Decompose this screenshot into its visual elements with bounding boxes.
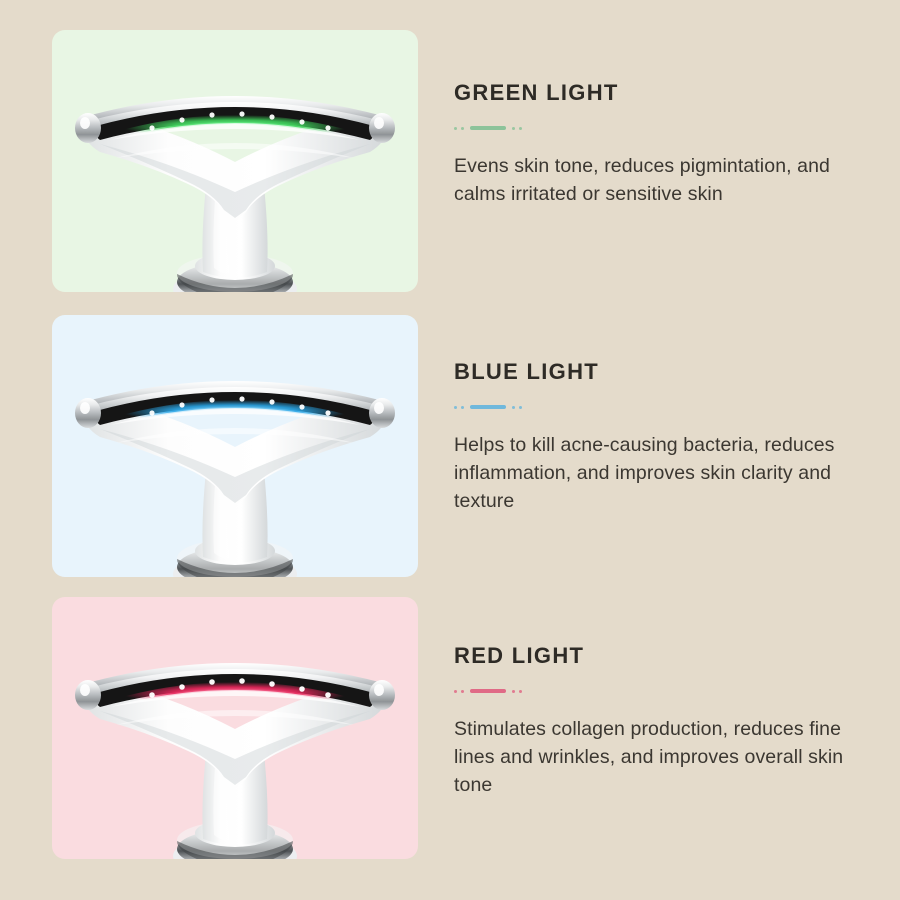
divider-bar — [470, 126, 506, 130]
divider-bar — [470, 405, 506, 409]
accent-divider-blue — [454, 404, 880, 410]
divider-dot — [512, 127, 515, 130]
section-heading: BLUE LIGHT — [454, 361, 880, 383]
divider-dot — [519, 690, 522, 693]
divider-bar — [470, 689, 506, 693]
divider-dot — [519, 127, 522, 130]
divider-dot — [454, 127, 457, 130]
accent-divider-red — [454, 688, 880, 694]
divider-dot — [519, 406, 522, 409]
section-red-light: RED LIGHT Stimulates collagen production… — [0, 597, 900, 859]
infographic-page: GREEN LIGHT Evens skin tone, reduces pig… — [0, 0, 900, 900]
divider-dot — [454, 406, 457, 409]
accent-divider-green — [454, 125, 880, 131]
section-heading: RED LIGHT — [454, 645, 880, 667]
section-description: Stimulates collagen production, reduces … — [454, 716, 880, 800]
divider-dot — [461, 690, 464, 693]
divider-dot — [461, 406, 464, 409]
divider-dot — [512, 690, 515, 693]
divider-dot — [454, 690, 457, 693]
section-description: Helps to kill acne-causing bacteria, red… — [454, 432, 880, 516]
device-image-blue — [70, 351, 400, 577]
divider-dot — [512, 406, 515, 409]
info-block-green: GREEN LIGHT Evens skin tone, reduces pig… — [418, 30, 900, 209]
device-image-red — [70, 633, 400, 859]
info-block-blue: BLUE LIGHT Helps to kill acne-causing ba… — [418, 315, 900, 516]
product-card-red — [52, 597, 418, 859]
info-block-red: RED LIGHT Stimulates collagen production… — [418, 597, 900, 800]
section-blue-light: BLUE LIGHT Helps to kill acne-causing ba… — [0, 315, 900, 577]
product-card-blue — [52, 315, 418, 577]
device-image-green — [70, 66, 400, 292]
section-description: Evens skin tone, reduces pigmintation, a… — [454, 153, 880, 209]
section-heading: GREEN LIGHT — [454, 82, 880, 104]
divider-dot — [461, 127, 464, 130]
section-green-light: GREEN LIGHT Evens skin tone, reduces pig… — [0, 30, 900, 292]
product-card-green — [52, 30, 418, 292]
